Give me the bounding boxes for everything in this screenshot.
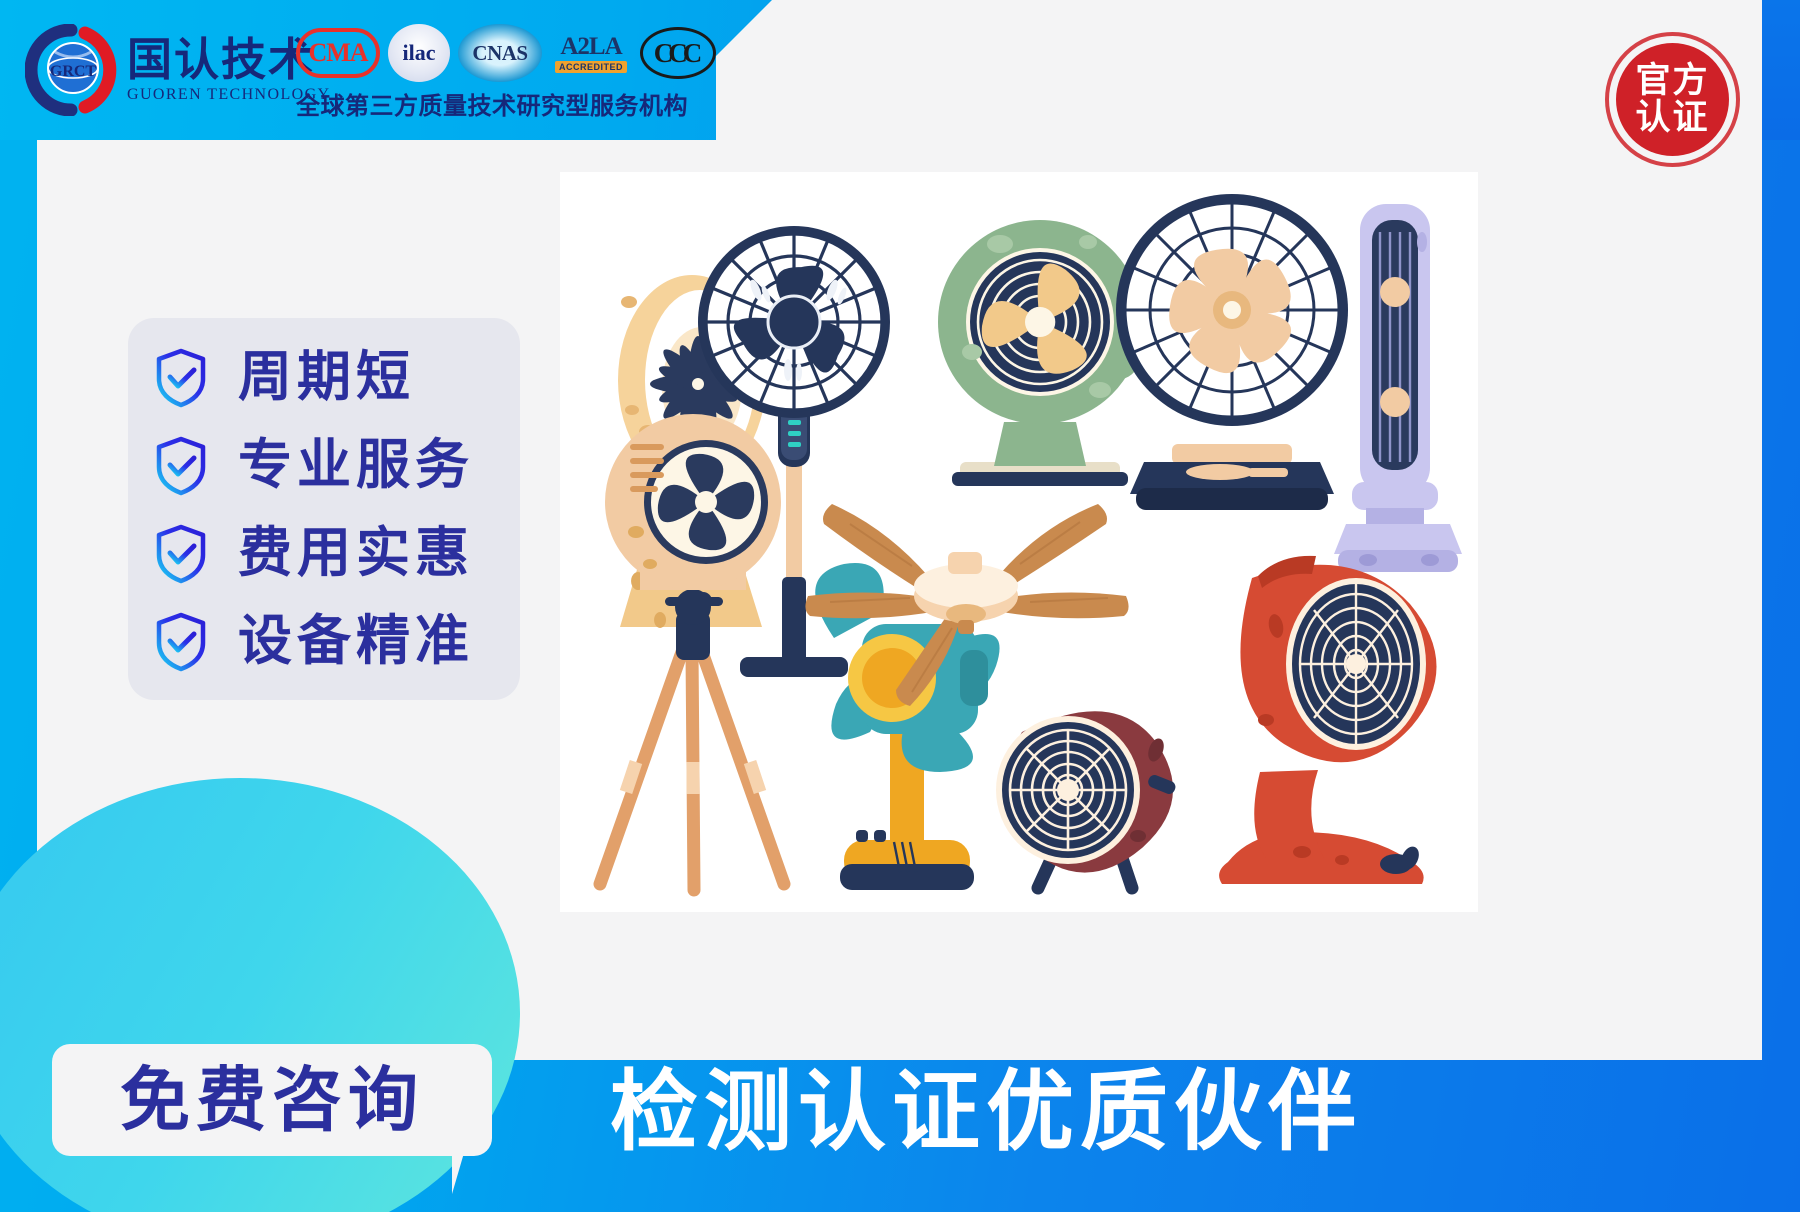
feature-item-3[interactable]: 设备精准 xyxy=(150,610,494,672)
footer-slogan: 检测认证优质伙伴 xyxy=(610,1068,1362,1156)
feature-item-label: 专业服务 xyxy=(238,438,474,492)
ilac-logo-icon: ilac xyxy=(388,24,450,82)
feature-item-0[interactable]: 周期短 xyxy=(150,346,494,408)
feature-item-1[interactable]: 专业服务 xyxy=(150,434,494,496)
shield-check-icon xyxy=(150,346,212,408)
official-certification-stamp-icon: 官方 认证 xyxy=(1605,32,1740,167)
electric-fans-illustration xyxy=(560,172,1478,912)
stamp-core: 官方 认证 xyxy=(1616,43,1729,156)
a2la-logo-icon: A2LA ACCREDITED xyxy=(550,24,632,82)
cma-logo-icon: CMA xyxy=(296,28,380,78)
stamp-line-2: 认证 xyxy=(1635,100,1709,137)
feature-item-label: 周期短 xyxy=(238,350,415,404)
speech-bubble-tail-icon xyxy=(452,1146,466,1194)
poster-root: GRCT 国认技术 GUOREN TECHNOLOGY CMA ilac CNA… xyxy=(0,0,1800,1212)
brand-logo[interactable]: GRCT 国认技术 GUOREN TECHNOLOGY xyxy=(25,20,331,120)
cnas-logo-icon: CNAS xyxy=(458,24,542,82)
feature-item-label: 费用实惠 xyxy=(238,526,474,580)
header-right-edge xyxy=(1762,0,1800,140)
svg-text:GRCT: GRCT xyxy=(50,63,97,80)
feature-item-2[interactable]: 费用实惠 xyxy=(150,522,494,584)
accreditation-block: CMA ilac CNAS A2LA ACCREDITED CCC 全球第三方质… xyxy=(296,22,716,121)
free-consultation-label: 免费咨询 xyxy=(120,1065,424,1135)
shield-check-icon xyxy=(150,522,212,584)
a2la-mark-label: A2LA xyxy=(560,34,621,59)
feature-item-label: 设备精准 xyxy=(238,614,474,668)
shield-check-icon xyxy=(150,434,212,496)
vintage-cage-table-fan xyxy=(1116,194,1348,510)
accreditation-subtitle: 全球第三方质量技术研究型服务机构 xyxy=(296,86,716,121)
free-consultation-button[interactable]: 免费咨询 xyxy=(52,1044,492,1156)
ccc-logo-icon: CCC xyxy=(640,27,716,79)
globe-ring-logo-icon: GRCT xyxy=(25,24,117,116)
feature-list-card: 周期短 专业服务 xyxy=(128,318,520,700)
accreditation-logo-row: CMA ilac CNAS A2LA ACCREDITED CCC xyxy=(296,22,716,84)
a2la-accredited-label: ACCREDITED xyxy=(555,61,627,73)
stamp-line-1: 官方 xyxy=(1635,63,1709,100)
shield-check-icon xyxy=(150,610,212,672)
